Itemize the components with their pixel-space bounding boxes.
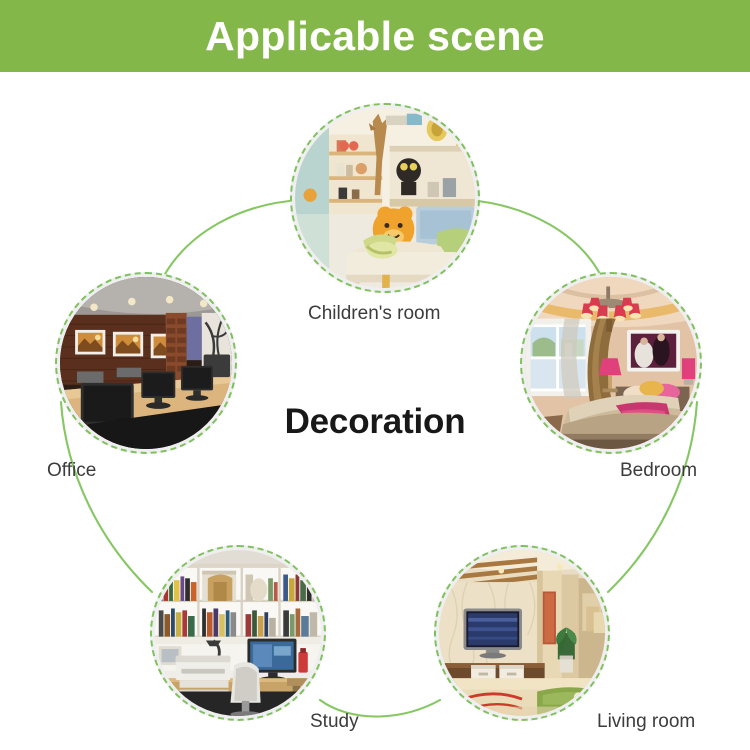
scene-label-office: Office <box>47 460 96 482</box>
center-label: Decoration <box>0 402 750 442</box>
scene-label-living-room: Living room <box>597 711 695 733</box>
childrens-room-photo[interactable] <box>290 103 480 293</box>
living-room-photo[interactable] <box>434 545 610 721</box>
scene-label-bedroom: Bedroom <box>620 460 697 482</box>
scene-label-study: Study <box>310 711 359 733</box>
scene-label-children-room: Children's room <box>308 303 440 325</box>
page-title: Applicable scene <box>205 16 545 57</box>
scene-diagram: Decoration <box>0 72 750 750</box>
header-banner: Applicable scene <box>0 0 750 72</box>
applicable-scene-page: Applicable scene Decoration <box>0 0 750 750</box>
study-photo[interactable] <box>150 545 326 721</box>
